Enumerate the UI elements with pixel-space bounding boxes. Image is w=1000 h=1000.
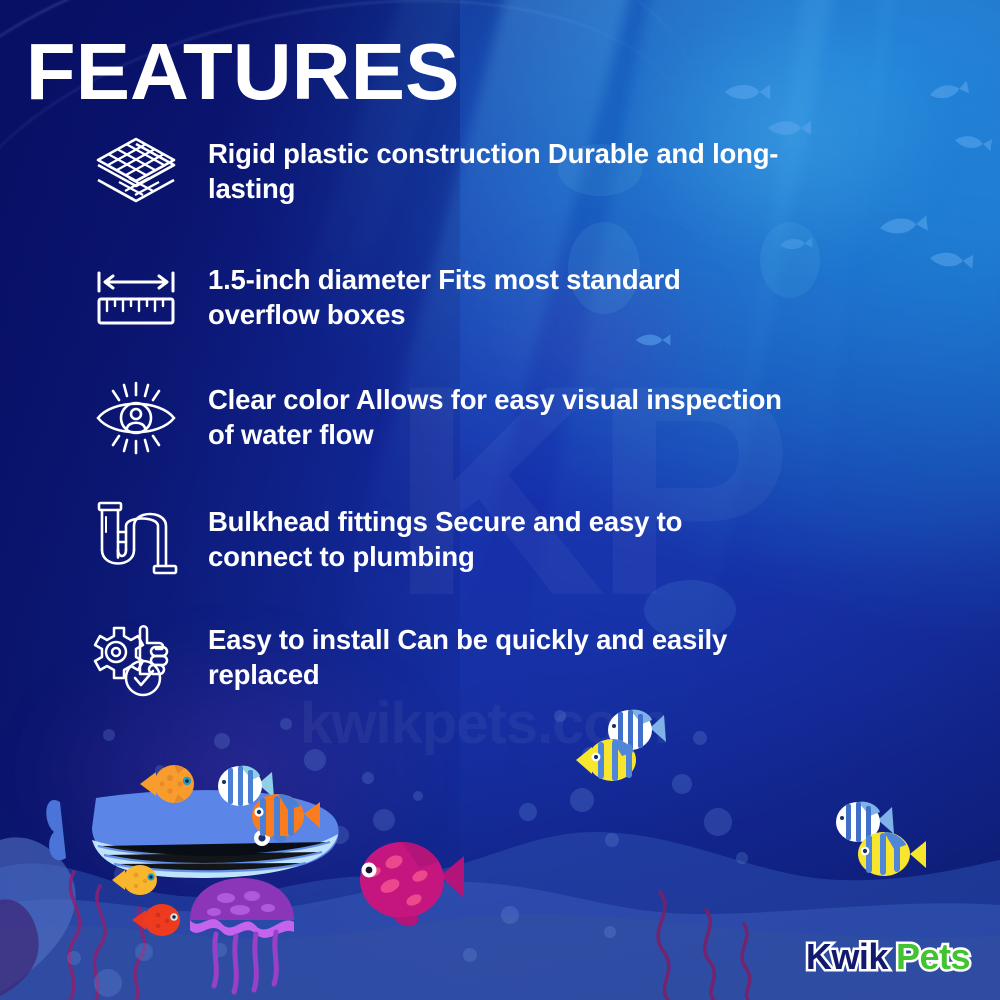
plumbing-pipe-trap-icon (88, 498, 184, 582)
gear-thumbs-up-check-icon (88, 616, 184, 700)
feature-item: Bulkhead fittings Secure and easy to con… (88, 498, 848, 582)
feature-text: 1.5-inch diameter Fits most standard ove… (184, 256, 784, 332)
feature-item: Easy to install Can be quickly and easil… (88, 616, 848, 700)
feature-list: Rigid plastic construction Durable and l… (88, 132, 848, 740)
blue-yellow-striped-fish (576, 710, 666, 781)
feature-text: Easy to install Can be quickly and easil… (184, 616, 784, 692)
poster-canvas: KP kwikpets.com FEATURES (0, 0, 1000, 1000)
brand-logo[interactable]: KwikPets (806, 936, 970, 978)
logo-kwik: Kwik (806, 936, 888, 977)
logo-pets: Pets (896, 936, 970, 977)
feature-text: Rigid plastic construction Durable and l… (184, 132, 784, 206)
feature-item: Rigid plastic construction Durable and l… (88, 132, 848, 216)
feature-item: Clear color Allows for easy visual inspe… (88, 376, 848, 460)
ruler-measure-icon (88, 256, 184, 340)
page-title: FEATURES (26, 32, 460, 112)
feature-item: 1.5-inch diameter Fits most standard ove… (88, 256, 848, 340)
feature-text: Clear color Allows for easy visual inspe… (184, 376, 784, 452)
eye-inspection-icon (88, 376, 184, 460)
feature-text: Bulkhead fittings Secure and easy to con… (184, 498, 784, 574)
stacked-layers-mesh-icon (88, 132, 184, 216)
blue-yellow-striped-fish (836, 802, 926, 876)
